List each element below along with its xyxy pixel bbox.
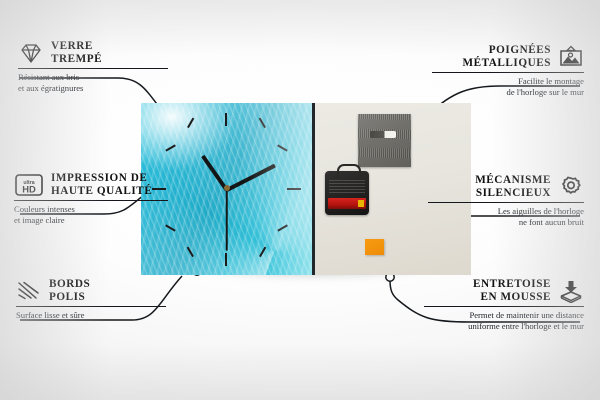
hour-tick bbox=[277, 144, 287, 151]
hour-tick bbox=[165, 144, 175, 151]
hour-tick bbox=[287, 188, 301, 190]
picture-frame-icon bbox=[558, 45, 584, 69]
feature-rule bbox=[14, 200, 168, 201]
feature-title-line2: SILENCIEUX bbox=[475, 187, 551, 200]
battery bbox=[328, 198, 366, 209]
press-down-icon bbox=[558, 279, 584, 303]
feature-desc-line1: Facilite le montage bbox=[432, 76, 584, 86]
feature-title-line2: HAUTE QUALITÉ bbox=[51, 185, 152, 198]
feature-bords-polis: BORDS POLIS Surface lisse et sûre bbox=[16, 278, 166, 321]
mechanism-hanger-loop bbox=[337, 164, 361, 178]
feature-desc-line2: uniforme entre l'horloge et le mur bbox=[424, 321, 584, 331]
hour-tick bbox=[187, 118, 194, 128]
feature-rule bbox=[16, 306, 166, 307]
feature-rule bbox=[432, 72, 584, 73]
feature-desc-line2: ne font aucun bruit bbox=[428, 217, 584, 227]
feature-desc-line1: Permet de maintenir une distance bbox=[424, 310, 584, 320]
feature-mecanisme-silencieux: MÉCANISME SILENCIEUX Les aiguilles de l'… bbox=[428, 174, 584, 227]
feature-rule bbox=[424, 306, 584, 307]
feature-title-line2: TREMPÉ bbox=[51, 53, 102, 66]
feature-poignees-metalliques: POIGNÉES MÉTALLIQUES Facilite le montage… bbox=[432, 44, 584, 97]
mechanism-label bbox=[329, 180, 365, 193]
feature-rule bbox=[18, 68, 168, 69]
feature-desc-line2: et image claire bbox=[14, 215, 168, 225]
hour-tick bbox=[259, 118, 266, 128]
svg-text:HD: HD bbox=[22, 183, 36, 194]
gear-icon bbox=[558, 175, 584, 199]
feature-desc-line1: Résistant aux bris bbox=[18, 72, 168, 82]
product-image bbox=[141, 103, 471, 275]
feature-title-line1: IMPRESSION DE bbox=[51, 172, 152, 185]
feature-title-line1: BORDS bbox=[49, 278, 90, 291]
hour-tick bbox=[187, 247, 194, 257]
feature-title-line2: MÉTALLIQUES bbox=[462, 57, 551, 70]
metal-hanger-plate bbox=[358, 114, 411, 167]
polished-edges-icon bbox=[16, 279, 42, 303]
feature-rule bbox=[428, 202, 584, 203]
hour-tick bbox=[225, 113, 227, 126]
feature-impression-haute-qualite: ultra HD IMPRESSION DE HAUTE QUALITÉ Cou… bbox=[14, 172, 168, 225]
diamond-icon bbox=[18, 41, 44, 65]
hour-tick bbox=[225, 253, 227, 266]
feature-title-line1: VERRE bbox=[51, 40, 102, 53]
foam-spacer bbox=[365, 239, 384, 255]
hour-tick bbox=[259, 247, 266, 257]
feature-desc-line1: Couleurs intenses bbox=[14, 204, 168, 214]
feature-verre-trempe: VERRE TREMPÉ Résistant aux bris et aux é… bbox=[18, 40, 168, 93]
ultra-hd-icon: ultra HD bbox=[14, 173, 44, 197]
second-hand bbox=[226, 189, 228, 251]
hour-tick bbox=[277, 224, 287, 231]
feature-title-line2: POLIS bbox=[49, 291, 90, 304]
feature-title-line2: EN MOUSSE bbox=[473, 291, 551, 304]
feature-title-line1: ENTRETOISE bbox=[473, 278, 551, 291]
hour-hand bbox=[201, 155, 229, 192]
infographic-canvas: VERRE TREMPÉ Résistant aux bris et aux é… bbox=[0, 0, 600, 400]
feature-title-line1: MÉCANISME bbox=[475, 174, 551, 187]
hour-tick bbox=[165, 224, 175, 231]
hand-cap bbox=[224, 185, 230, 191]
feature-desc-line2: et aux égratignures bbox=[18, 83, 168, 93]
feature-entretoise-en-mousse: ENTRETOISE EN MOUSSE Permet de maintenir… bbox=[424, 278, 584, 331]
feature-desc-line2: de l'horloge sur le mur bbox=[432, 87, 584, 97]
clock-mechanism bbox=[325, 171, 369, 215]
feature-desc-line1: Surface lisse et sûre bbox=[16, 310, 166, 320]
minute-hand bbox=[226, 164, 276, 192]
feature-title-line1: POIGNÉES bbox=[462, 44, 551, 57]
feature-desc-line1: Les aiguilles de l'horloge bbox=[428, 206, 584, 216]
hanger-slot bbox=[370, 131, 396, 138]
